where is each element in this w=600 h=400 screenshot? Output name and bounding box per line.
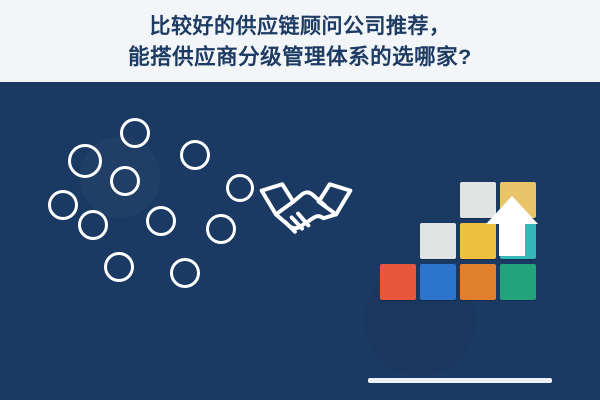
- chart-tile-c4-r1: [500, 264, 536, 300]
- circle-5: [48, 190, 78, 220]
- circle-11: [226, 174, 254, 202]
- chart-tile-c2-r1: [420, 264, 456, 300]
- circle-3: [180, 140, 210, 170]
- circle-1: [120, 118, 150, 148]
- poster-header: 比较好的供应链顾问公司推荐， 能搭供应商分级管理体系的选哪家?: [0, 0, 600, 82]
- arrow-up-icon: [484, 194, 540, 256]
- circle-9: [104, 252, 134, 282]
- circle-10: [170, 258, 200, 288]
- circle-4: [110, 166, 140, 196]
- title-line-1: 比较好的供应链顾问公司推荐，: [150, 12, 451, 42]
- ground-baseline: [368, 378, 552, 383]
- handshake-icon: [258, 170, 354, 246]
- infographic-poster: 比较好的供应链顾问公司推荐， 能搭供应商分级管理体系的选哪家?: [0, 0, 600, 400]
- chart-tile-c1-r1: [380, 264, 416, 300]
- circle-2: [68, 144, 102, 178]
- chart-tile-c3-r1: [460, 264, 496, 300]
- title-line-2: 能搭供应商分级管理体系的选哪家?: [128, 42, 472, 73]
- chart-tile-c2-r2: [420, 223, 456, 259]
- circle-8: [206, 214, 236, 244]
- scattered-circles-group: [48, 118, 258, 288]
- illustration-panel: 无体系 有体系: [0, 82, 600, 400]
- circle-6: [78, 210, 108, 240]
- circle-7: [146, 206, 176, 236]
